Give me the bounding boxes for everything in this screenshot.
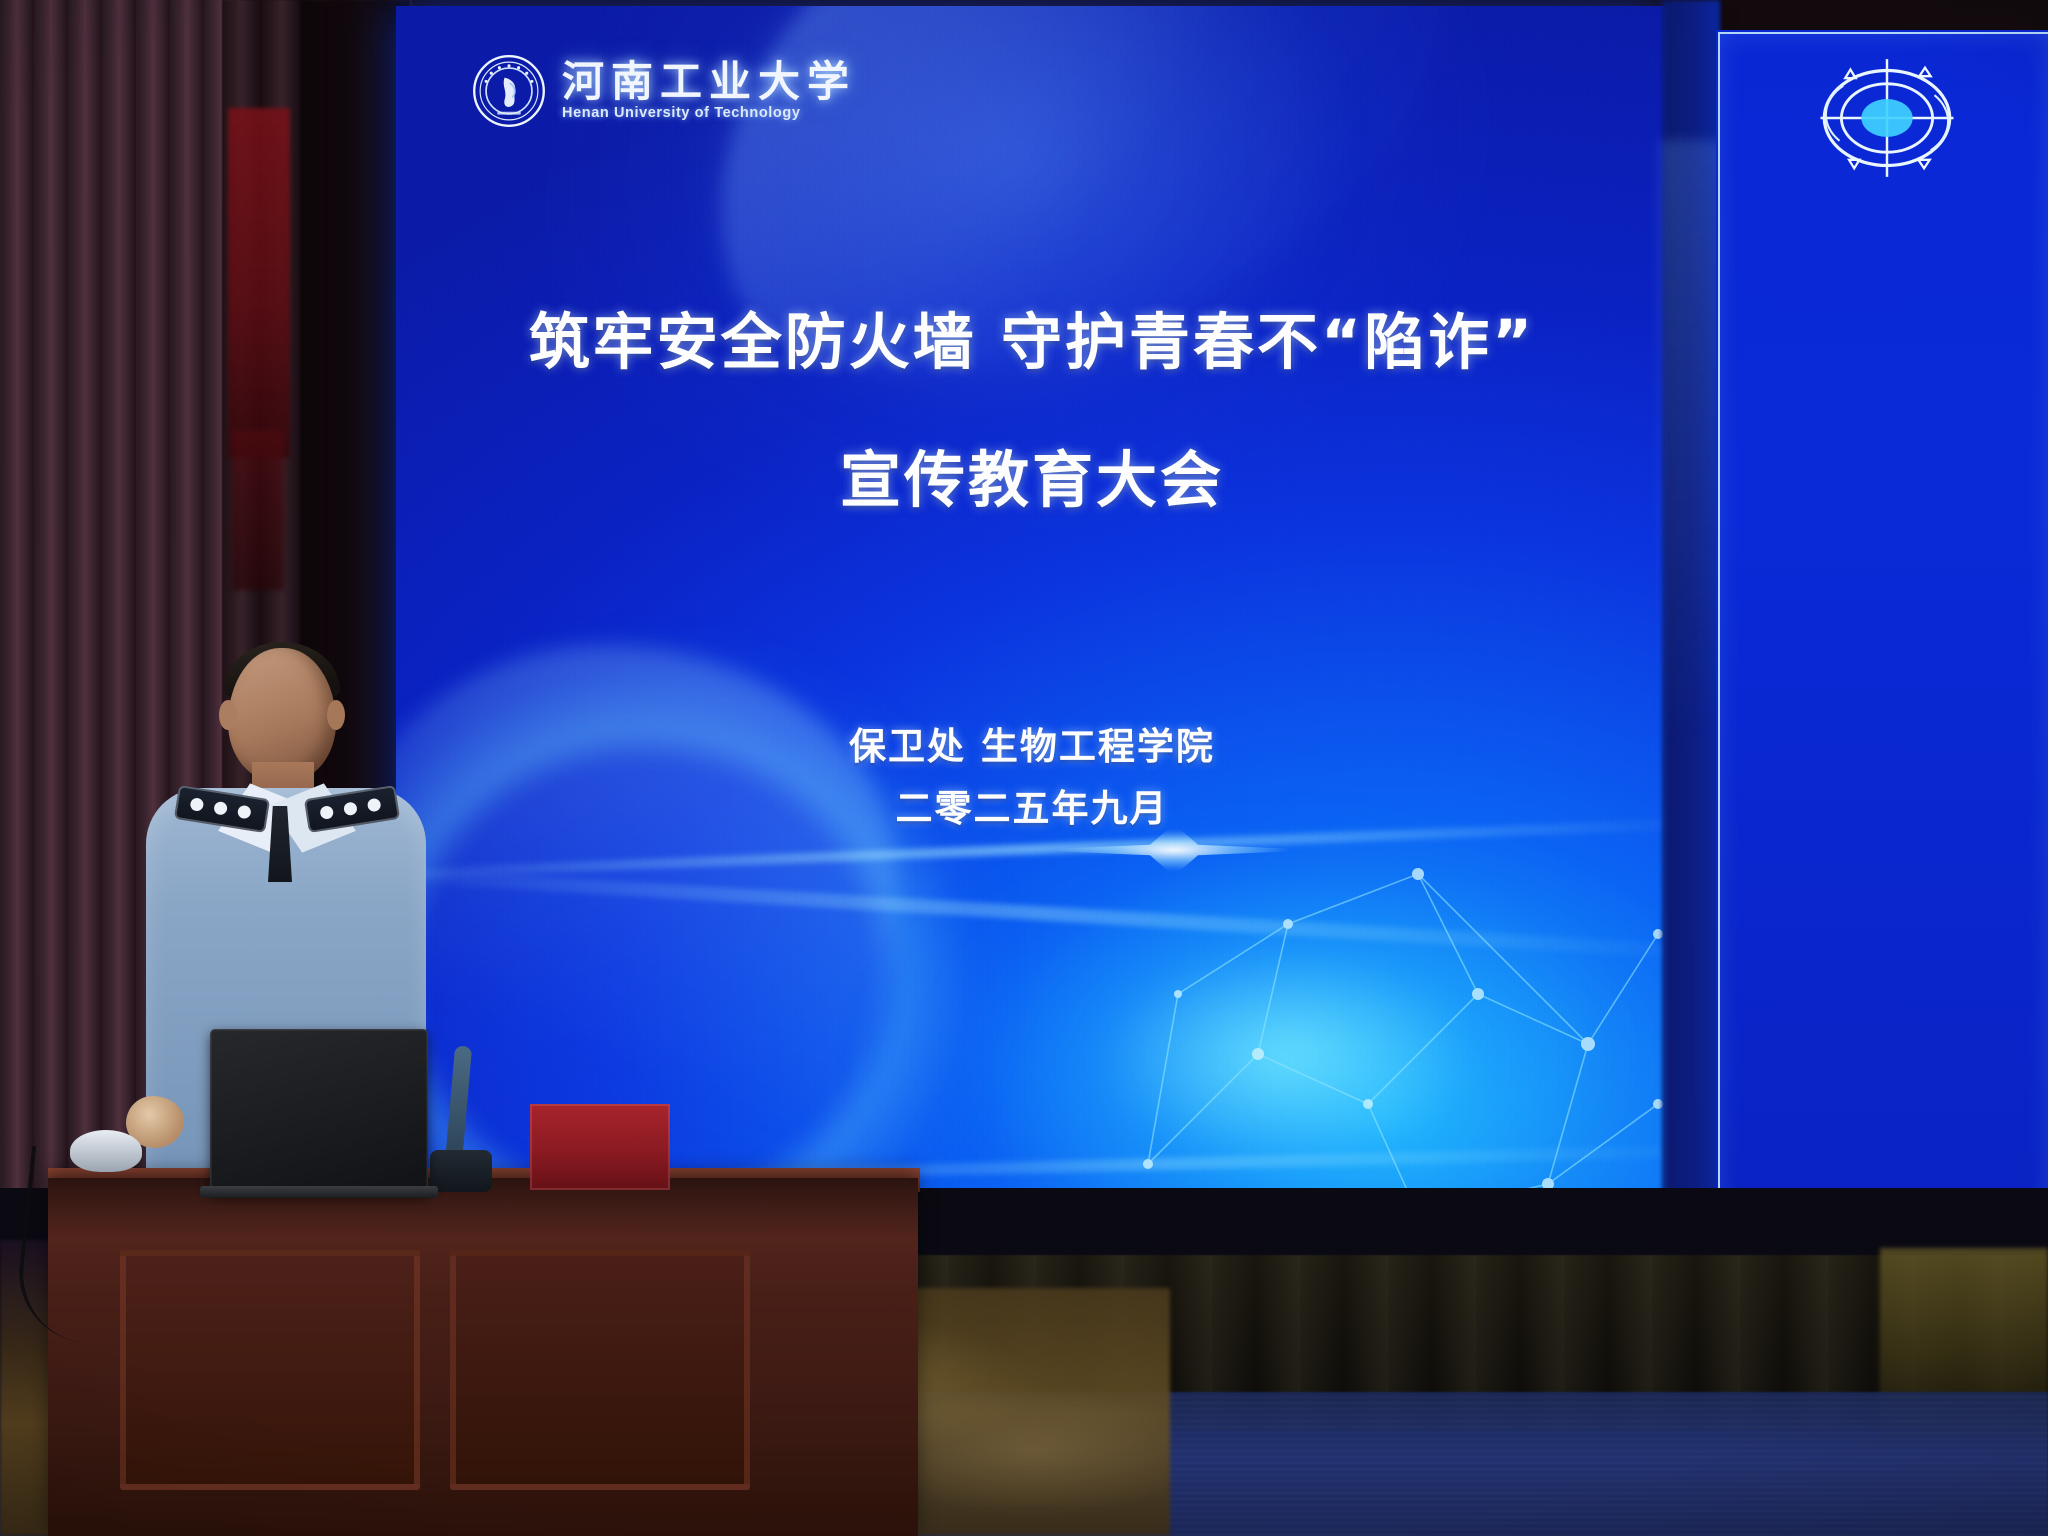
slide-footer-organizers: 保卫处 生物工程学院 [396,716,1668,770]
university-name-en: Henan University of Technology [562,105,856,121]
university-name-cn: 河南工业大学 [562,61,856,103]
slide-title-line-1: 筑牢安全防火墙 守护青春不“陷诈” [396,292,1668,381]
speaker-ear-right [327,700,345,730]
university-seal-icon [472,54,546,128]
podium-front-panel-right [450,1250,750,1490]
university-branding: 河南工业大学 Henan University of Technology [472,54,856,128]
screenshot-root: 河南工业大学 Henan University of Technology 筑牢… [0,0,2048,1536]
slide-title-line-2: 宣传教育大会 [396,430,1668,519]
right-decor-panel [1716,30,2048,1240]
podium-front-panel-left [120,1250,420,1490]
rank-pip [237,805,252,820]
curtain-red-stripe [228,108,290,458]
projection-screen-slide: 河南工业大学 Henan University of Technology 筑牢… [396,6,1668,1264]
laptop-screen [210,1029,428,1194]
slide-footer-date: 二零二五年九月 [396,778,1668,832]
rank-pip [213,801,228,816]
curtain-red-stripe-lower [232,430,284,590]
university-name-block: 河南工业大学 Henan University of Technology [562,61,856,121]
rank-pip [189,797,204,812]
crosshair-target-icon [1800,42,1974,194]
speaker-ear-left [219,700,237,730]
red-box [530,1104,670,1190]
rank-pip [367,798,382,813]
network-constellation-icon [1118,804,1668,1224]
rank-pip [343,801,358,816]
rank-pip [319,805,334,820]
microphone-base [430,1150,492,1192]
laptop-base [200,1186,438,1198]
